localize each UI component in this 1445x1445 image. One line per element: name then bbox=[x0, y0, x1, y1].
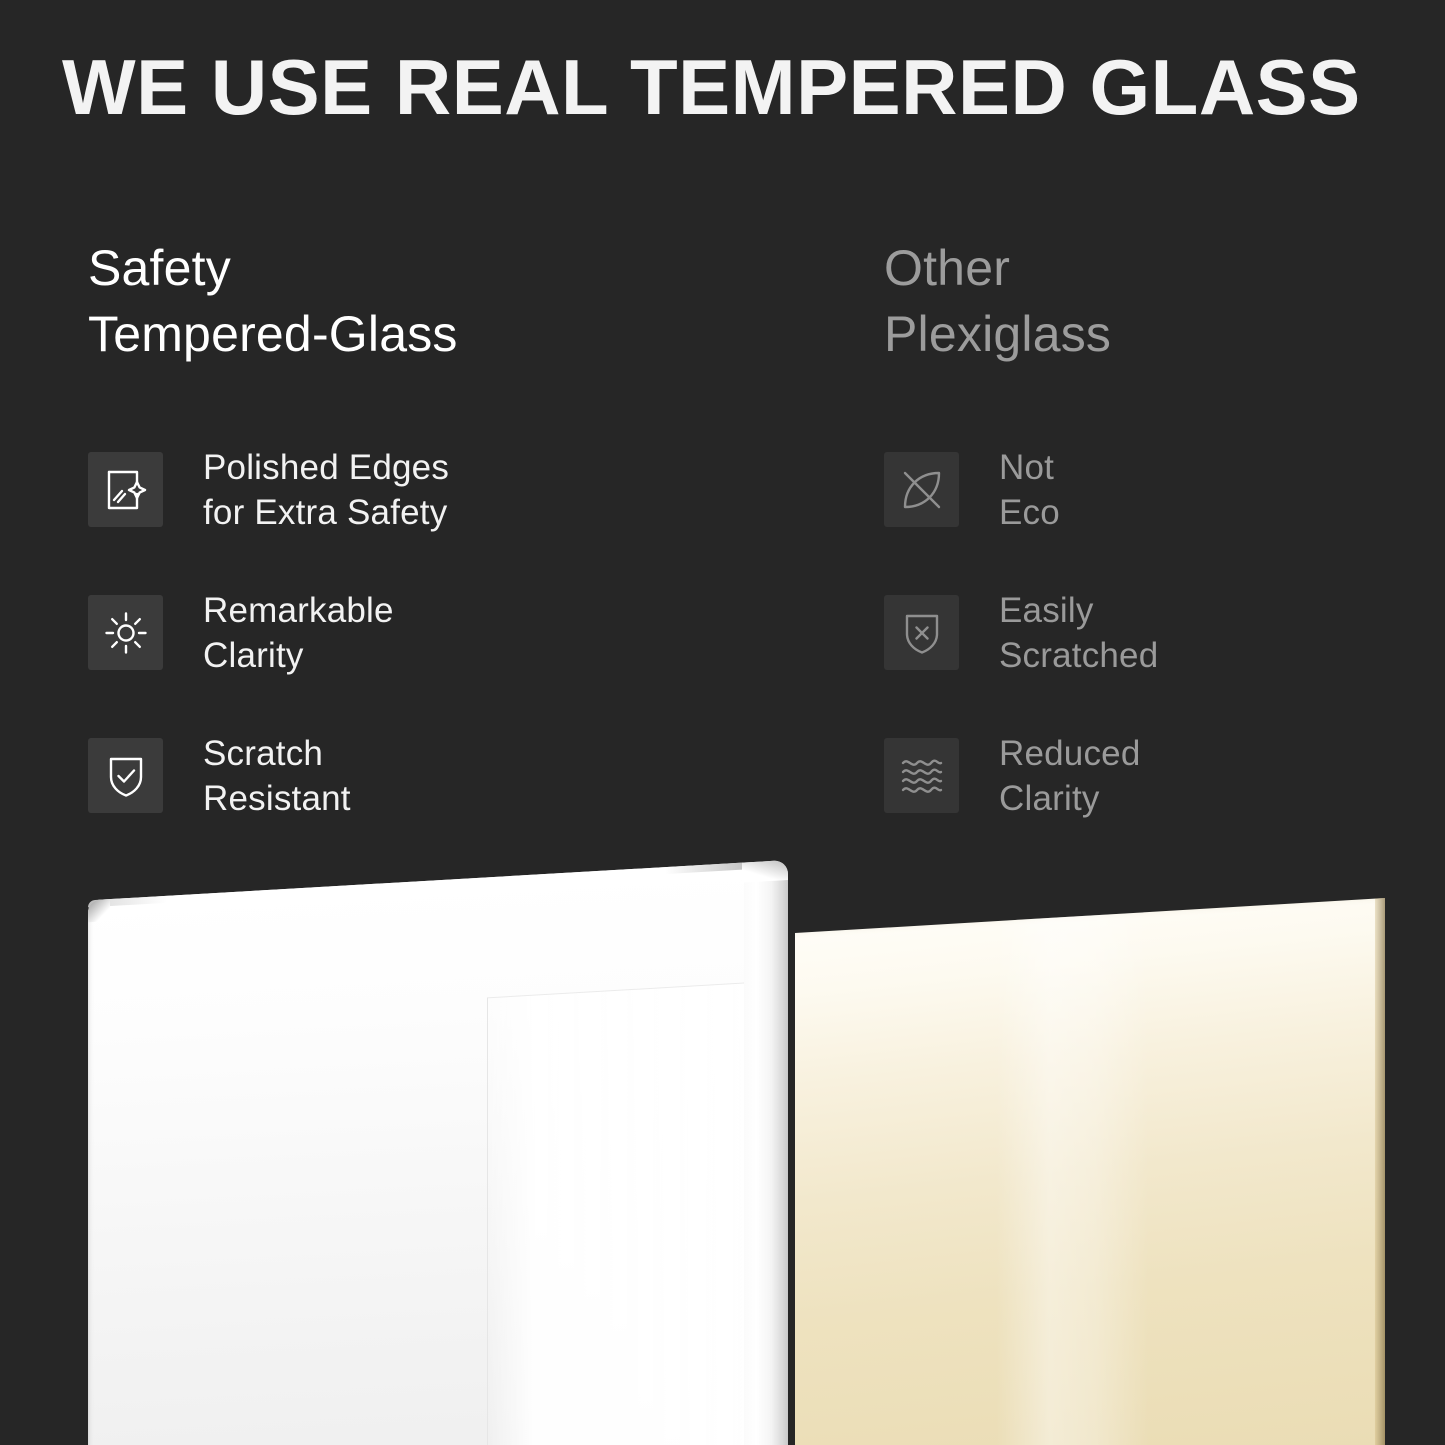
plexiglass-panel bbox=[795, 898, 1385, 1445]
feature-label: Remarkable Clarity bbox=[203, 588, 394, 678]
column-plexiglass: Other Plexiglass Not Eco bbox=[884, 235, 1445, 367]
leaf-slashed-icon bbox=[884, 452, 959, 527]
column-heading-tempered-glass: Safety Tempered-Glass bbox=[88, 235, 708, 367]
page-title: WE USE REAL TEMPERED GLASS bbox=[62, 44, 1402, 130]
feature-label: Reduced Clarity bbox=[999, 731, 1141, 821]
glass-panel-polished-edge bbox=[744, 860, 788, 1445]
wavy-lines-icon bbox=[884, 738, 959, 813]
feature-label: Easily Scratched bbox=[999, 588, 1158, 678]
feature-list-tempered-glass: Polished Edges for Extra Safety bbox=[88, 452, 708, 813]
tempered-glass-panel bbox=[88, 860, 788, 1445]
plexiglass-sheen bbox=[996, 912, 1149, 1445]
feature-remarkable-clarity: Remarkable Clarity bbox=[88, 595, 708, 670]
feature-label: Polished Edges for Extra Safety bbox=[203, 445, 449, 535]
column-heading-plexiglass: Other Plexiglass bbox=[884, 235, 1445, 367]
feature-label: Not Eco bbox=[999, 445, 1060, 535]
feature-label: Scratch Resistant bbox=[203, 731, 351, 821]
feature-list-plexiglass: Not Eco Easily Scratched bbox=[884, 452, 1445, 813]
comparison-infographic: WE USE REAL TEMPERED GLASS Safety Temper… bbox=[0, 0, 1445, 1445]
shield-x-icon bbox=[884, 595, 959, 670]
feature-scratch-resistant: Scratch Resistant bbox=[88, 738, 708, 813]
glass-panel-corner-right bbox=[742, 860, 788, 883]
column-tempered-glass: Safety Tempered-Glass Polished Edges for… bbox=[88, 235, 708, 367]
sun-clarity-icon bbox=[88, 595, 163, 670]
feature-not-eco: Not Eco bbox=[884, 452, 1445, 527]
feature-easily-scratched: Easily Scratched bbox=[884, 595, 1445, 670]
glass-panel-reflection bbox=[487, 982, 746, 1445]
feature-polished-edges: Polished Edges for Extra Safety bbox=[88, 452, 708, 527]
glass-panel-corner-left bbox=[88, 899, 110, 922]
panel-comparison-photo bbox=[0, 840, 1445, 1445]
feature-reduced-clarity: Reduced Clarity bbox=[884, 738, 1445, 813]
polished-glass-pane-sparkle-icon bbox=[88, 452, 163, 527]
shield-check-icon bbox=[88, 738, 163, 813]
